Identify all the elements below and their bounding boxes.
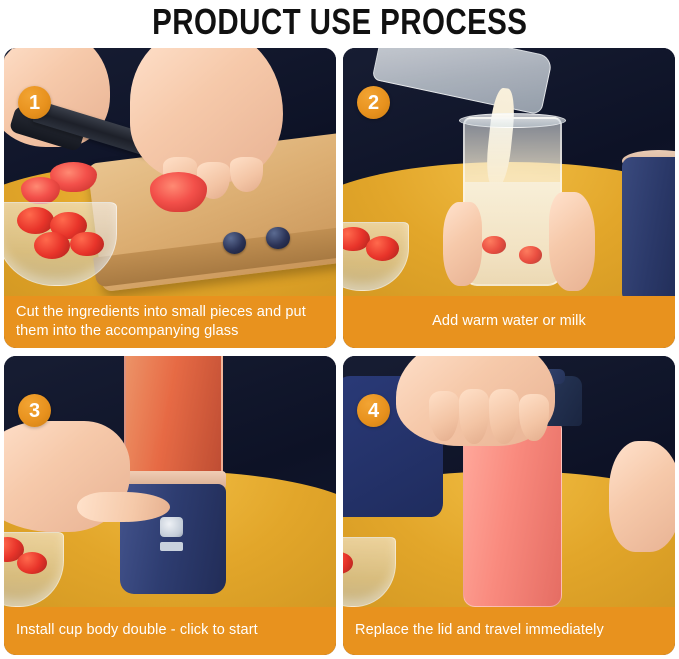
strawberry-in-jar-2 (519, 246, 542, 263)
strawberry-in-jar-1 (482, 236, 505, 253)
steps-grid: 1 Cut the ingredients into small pieces … (4, 48, 675, 655)
step-number-4: 4 (368, 401, 379, 421)
step-number-1: 1 (29, 93, 40, 113)
step-caption-1: Cut the ingredients into small pieces an… (4, 296, 336, 348)
index-finger (77, 492, 170, 522)
step-2-image (343, 48, 675, 296)
step-number-3: 3 (29, 401, 40, 421)
step-panel-4: 4 Replace the lid and travel immediately (343, 356, 675, 655)
step-4-image (343, 356, 675, 607)
step-caption-4: Replace the lid and travel immediately (343, 607, 675, 655)
blueberry-2 (266, 227, 289, 249)
step-number-badge-4: 4 (357, 394, 390, 427)
holding-hand-fingers (549, 192, 595, 291)
step-3-image (4, 356, 336, 607)
strawberry-in-bowl-1 (17, 207, 54, 234)
product-use-process-infographic: PRODUCT USE PROCESS (0, 0, 679, 659)
step-caption-2: Add warm water or milk (343, 296, 675, 348)
step-number-2: 2 (368, 93, 379, 113)
power-button (160, 517, 183, 537)
page-title: PRODUCT USE PROCESS (152, 4, 527, 40)
usb-charging-port (160, 542, 183, 551)
strawberry-in-bowl-3 (34, 232, 71, 259)
step-panel-3: 3 Install cup body double - click to sta… (4, 356, 336, 655)
step-number-badge-1: 1 (18, 86, 51, 119)
step-number-badge-2: 2 (357, 86, 390, 119)
blender-cup-with-smoothie (124, 356, 224, 482)
step-panel-2: 2 Add warm water or milk (343, 48, 675, 348)
strawberry-in-bowl-4 (70, 232, 103, 257)
step-number-badge-3: 3 (18, 394, 51, 427)
step-1-image (4, 48, 336, 296)
step-panel-1: 1 Cut the ingredients into small pieces … (4, 48, 336, 348)
side-hand (609, 441, 675, 551)
blender-motor-base (622, 157, 675, 296)
strawberry-being-cut (150, 172, 206, 212)
step-caption-3: Install cup body double - click to start (4, 607, 336, 655)
jar-rim (459, 113, 566, 128)
blueberry-1 (223, 232, 246, 254)
travel-smoothie-cup (463, 421, 563, 607)
holding-hand (443, 202, 483, 286)
title-bar: PRODUCT USE PROCESS (0, 0, 679, 44)
